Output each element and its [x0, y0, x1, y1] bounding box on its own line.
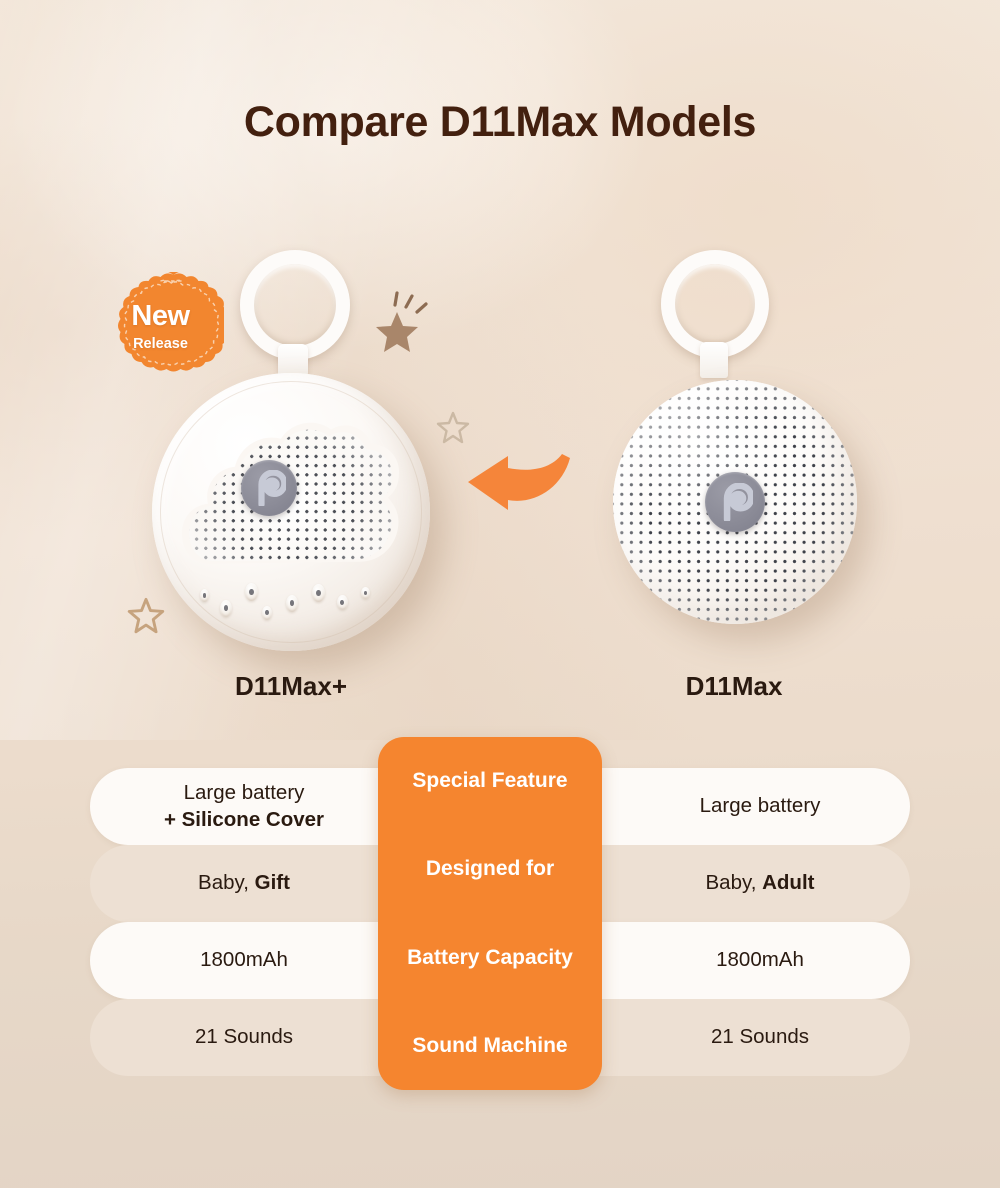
control-button-bump[interactable] [220, 600, 232, 617]
cell-right-plain: 1800mAh [716, 948, 804, 971]
control-button-bump[interactable] [361, 587, 370, 599]
device-body-left [152, 373, 430, 651]
cell-left-value: Large battery + Silicone Cover [94, 780, 394, 832]
sparkle-lines-icon [395, 293, 426, 312]
ring-tab-left [278, 344, 308, 376]
cell-right-plain: Baby, [706, 871, 763, 894]
logo-power-button-right[interactable] [705, 472, 765, 532]
page-title: Compare D11Max Models [0, 98, 1000, 147]
star-outline-icon [127, 596, 165, 634]
control-button-bump[interactable] [337, 595, 348, 610]
control-button-bump[interactable] [245, 583, 258, 601]
star-sparkle-decoration [375, 290, 439, 367]
star-outline-icon [436, 410, 470, 444]
ring-tab-right [700, 342, 728, 378]
feature-label-battery-capacity: Battery Capacity [378, 914, 602, 1002]
cell-right-value: Large battery [610, 793, 910, 819]
feature-label-special-feature: Special Feature [378, 737, 602, 825]
product-label-d11max: D11Max [605, 671, 863, 702]
control-buttons-arc [152, 373, 430, 651]
cell-left-bold: + Silicone Cover [164, 808, 324, 831]
cell-left-plain: Baby, [198, 871, 255, 894]
cell-right-value: 21 Sounds [610, 1024, 910, 1050]
control-button-bump[interactable] [312, 584, 325, 602]
feature-column-highlight: Special Feature Designed for Battery Cap… [378, 737, 602, 1090]
cell-right-bold: Adult [762, 871, 814, 894]
badge-scalloped-seal-icon [97, 272, 224, 382]
cell-right-value: 1800mAh [610, 947, 910, 973]
curved-left-arrow-icon [462, 448, 572, 514]
star-outline-decoration-left [127, 596, 165, 639]
feature-label-sound-machine: Sound Machine [378, 1002, 602, 1090]
control-button-bump[interactable] [286, 595, 298, 612]
cell-right-plain: 21 Sounds [711, 1025, 809, 1048]
cell-left-plain: 1800mAh [200, 948, 288, 971]
cell-right-value: Baby, Adult [610, 870, 910, 896]
control-button-bump[interactable] [200, 589, 209, 602]
new-release-badge: New Release [97, 272, 224, 382]
cell-left-value: Baby, Gift [94, 870, 394, 896]
cell-left-value: 1800mAh [94, 947, 394, 973]
cell-left-value: 21 Sounds [94, 1024, 394, 1050]
feature-label-designed-for: Designed for [378, 825, 602, 913]
cell-right-plain: Large battery [700, 794, 821, 817]
cell-left-bold: Gift [255, 871, 290, 894]
star-outline-decoration-mid [436, 410, 470, 449]
dreamegg-spiral-logo-icon [717, 483, 753, 521]
cell-left-plain: 21 Sounds [195, 1025, 293, 1048]
product-label-d11max-plus: D11Max+ [152, 671, 430, 702]
star-filled-icon [375, 290, 439, 362]
cell-left-plain: Large battery [184, 781, 305, 804]
control-button-bump[interactable] [262, 606, 272, 620]
curved-arrow-decoration [462, 448, 572, 519]
